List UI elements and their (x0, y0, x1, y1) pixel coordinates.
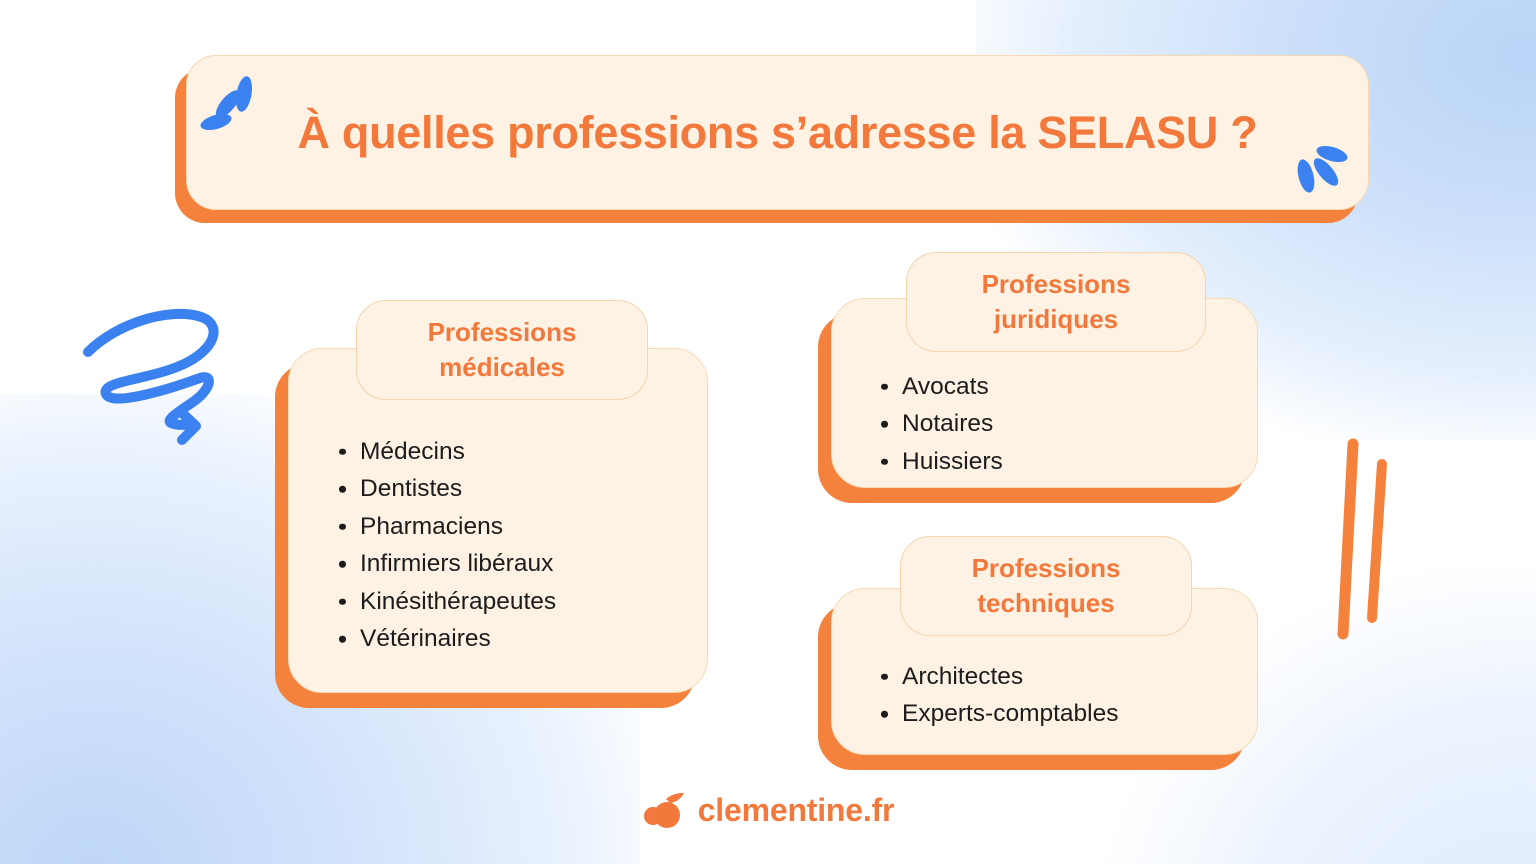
list-professions-medicales: Médecins Dentistes Pharmaciens Infirmier… (334, 433, 556, 658)
list-item: Vétérinaires (334, 620, 556, 657)
clementine-fruit-icon (642, 790, 686, 830)
badge-professions-techniques: Professions techniques (900, 536, 1192, 636)
list-item: Infirmiers libéraux (334, 545, 556, 582)
orange-double-stroke-icon (1334, 436, 1396, 642)
list-item: Experts-comptables (876, 695, 1119, 732)
badge-professions-juridiques: Professions juridiques (906, 252, 1206, 352)
title-banner: À quelles professions s’adresse la SELAS… (186, 55, 1369, 210)
list-professions-juridiques: Avocats Notaires Huissiers (876, 368, 1003, 480)
badge-professions-medicales: Professions médicales (356, 300, 648, 400)
list-item: Médecins (334, 433, 556, 470)
list-item: Huissiers (876, 443, 1003, 480)
list-item: Kinésithérapeutes (334, 583, 556, 620)
list-item: Notaires (876, 405, 1003, 442)
footer-logo[interactable]: clementine.fr (0, 790, 1536, 830)
page-title: À quelles professions s’adresse la SELAS… (298, 107, 1258, 159)
blue-squiggle-arrow-icon (82, 300, 232, 448)
list-professions-techniques: Architectes Experts-comptables (876, 658, 1119, 733)
list-item: Dentistes (334, 470, 556, 507)
logo-text: clementine.fr (698, 792, 895, 829)
list-item: Architectes (876, 658, 1119, 695)
list-item: Pharmaciens (334, 508, 556, 545)
list-item: Avocats (876, 368, 1003, 405)
